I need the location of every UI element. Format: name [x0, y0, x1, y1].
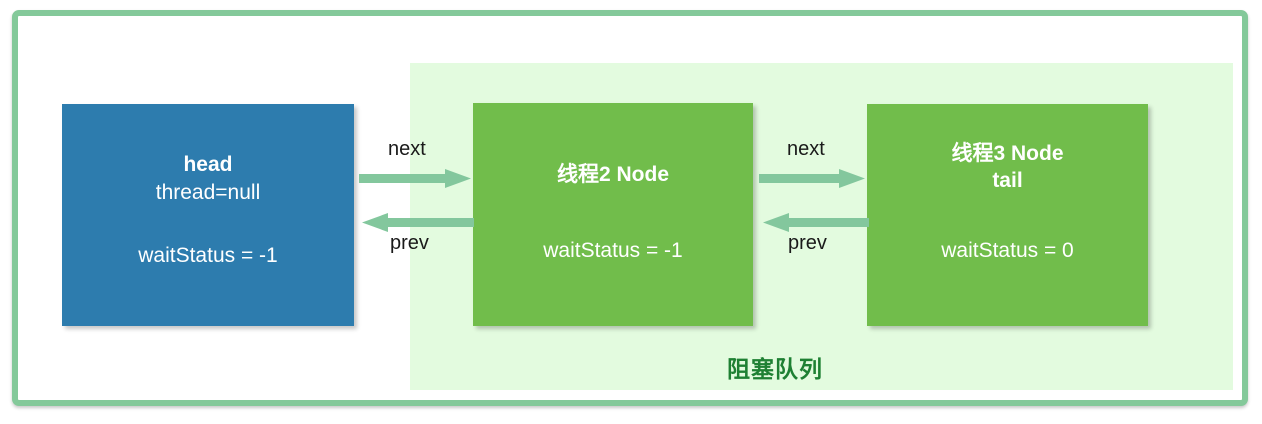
node-thread3[interactable]: 线程3 Node tail waitStatus = 0 — [867, 104, 1148, 326]
diagram-canvas: head thread=null waitStatus = -1 线程2 Nod… — [0, 0, 1262, 424]
node-head-title: head — [183, 151, 232, 178]
connector-2-prev-label: prev — [788, 232, 827, 255]
blocking-queue-caption: 阻塞队列 — [727, 350, 823, 384]
next-prev-arrows-icon-1 — [359, 161, 474, 241]
node-thread2-title: 线程2 Node — [557, 161, 669, 188]
connector-1-next-label: next — [388, 138, 426, 161]
node-thread2-waitstatus: waitStatus = -1 — [543, 238, 682, 264]
outer-frame: head thread=null waitStatus = -1 线程2 Nod… — [12, 10, 1248, 406]
connector-thread2-thread3: next prev — [759, 161, 869, 241]
node-head[interactable]: head thread=null waitStatus = -1 — [62, 104, 354, 326]
next-prev-arrows-icon-2 — [759, 161, 869, 241]
node-head-subtitle: thread=null — [156, 179, 261, 207]
connector-head-thread2: next prev — [359, 161, 474, 241]
connector-2-next-label: next — [787, 138, 825, 161]
node-thread3-title: 线程3 Node tail — [951, 140, 1063, 194]
connector-1-prev-label: prev — [390, 232, 429, 255]
node-thread2[interactable]: 线程2 Node waitStatus = -1 — [473, 103, 753, 326]
node-head-waitstatus: waitStatus = -1 — [138, 243, 277, 269]
node-thread3-waitstatus: waitStatus = 0 — [941, 238, 1074, 264]
